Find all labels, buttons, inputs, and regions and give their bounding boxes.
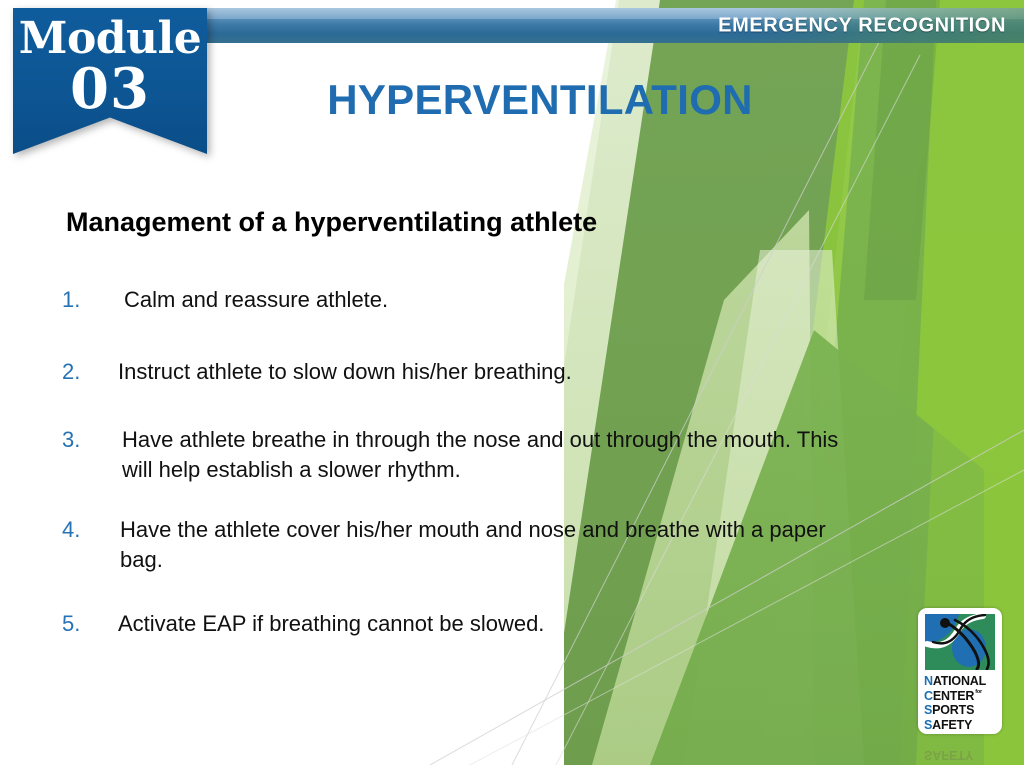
reflection-text: SAFETY <box>918 748 1002 763</box>
list-item-number: 2. <box>62 357 118 387</box>
logo-line-safety: SAFETY <box>924 718 998 733</box>
logo-line-sports: SPORTS <box>924 703 998 718</box>
logo-cap-s2: S <box>924 718 932 732</box>
page-title: HYPERVENTILATION <box>230 76 850 124</box>
module-ribbon: Module 03 <box>13 8 207 154</box>
module-number: 03 <box>13 60 207 118</box>
banner-title: EMERGENCY RECOGNITION <box>718 14 1006 37</box>
logo-cap-n: N <box>924 674 933 688</box>
ncss-logo-reflection: SAFETY <box>918 736 1002 762</box>
list-item-number: 4. <box>62 515 118 575</box>
logo-rest-national: ATIONAL <box>933 674 986 688</box>
list-item: 1. Calm and reassure athlete. <box>62 285 862 315</box>
list-item-text: Have athlete breathe in through the nose… <box>118 425 862 485</box>
logo-superscript-for: for <box>975 690 982 696</box>
list-item: 4. Have the athlete cover his/her mouth … <box>62 515 862 575</box>
list-item-text: Have the athlete cover his/her mouth and… <box>118 515 862 575</box>
ncss-logo: NATIONAL CENTERfor SPORTS SAFETY <box>918 608 1002 734</box>
list-item-text: Instruct athlete to slow down his/her br… <box>118 357 862 387</box>
list-item-number: 1. <box>62 285 118 315</box>
list-item: 3. Have athlete breathe in through the n… <box>62 425 862 485</box>
logo-rest-center: ENTER <box>933 689 974 703</box>
header-banner-bar: EMERGENCY RECOGNITION <box>205 8 1024 43</box>
steps-list: 1. Calm and reassure athlete. 2. Instruc… <box>62 285 862 665</box>
logo-cap-c: C <box>924 689 933 703</box>
list-item: 5. Activate EAP if breathing cannot be s… <box>62 609 862 639</box>
ncss-wordmark: NATIONAL CENTERfor SPORTS SAFETY <box>924 674 998 732</box>
logo-line-national: NATIONAL <box>924 674 998 689</box>
slide-canvas: EMERGENCY RECOGNITION Module 03 HYPERVEN… <box>0 0 1024 765</box>
logo-line-center: CENTERfor <box>924 689 998 704</box>
logo-cap-s1: S <box>924 703 932 717</box>
list-item-number: 5. <box>62 609 118 639</box>
list-item: 2. Instruct athlete to slow down his/her… <box>62 357 862 387</box>
ncss-emblem-icon <box>925 614 995 670</box>
logo-rest-safety: AFETY <box>932 718 972 732</box>
body-heading: Management of a hyperventilating athlete <box>66 205 856 239</box>
list-item-text: Activate EAP if breathing cannot be slow… <box>118 609 862 639</box>
list-item-text: Calm and reassure athlete. <box>118 285 862 315</box>
list-item-number: 3. <box>62 425 118 485</box>
logo-rest-sports: PORTS <box>932 703 974 717</box>
